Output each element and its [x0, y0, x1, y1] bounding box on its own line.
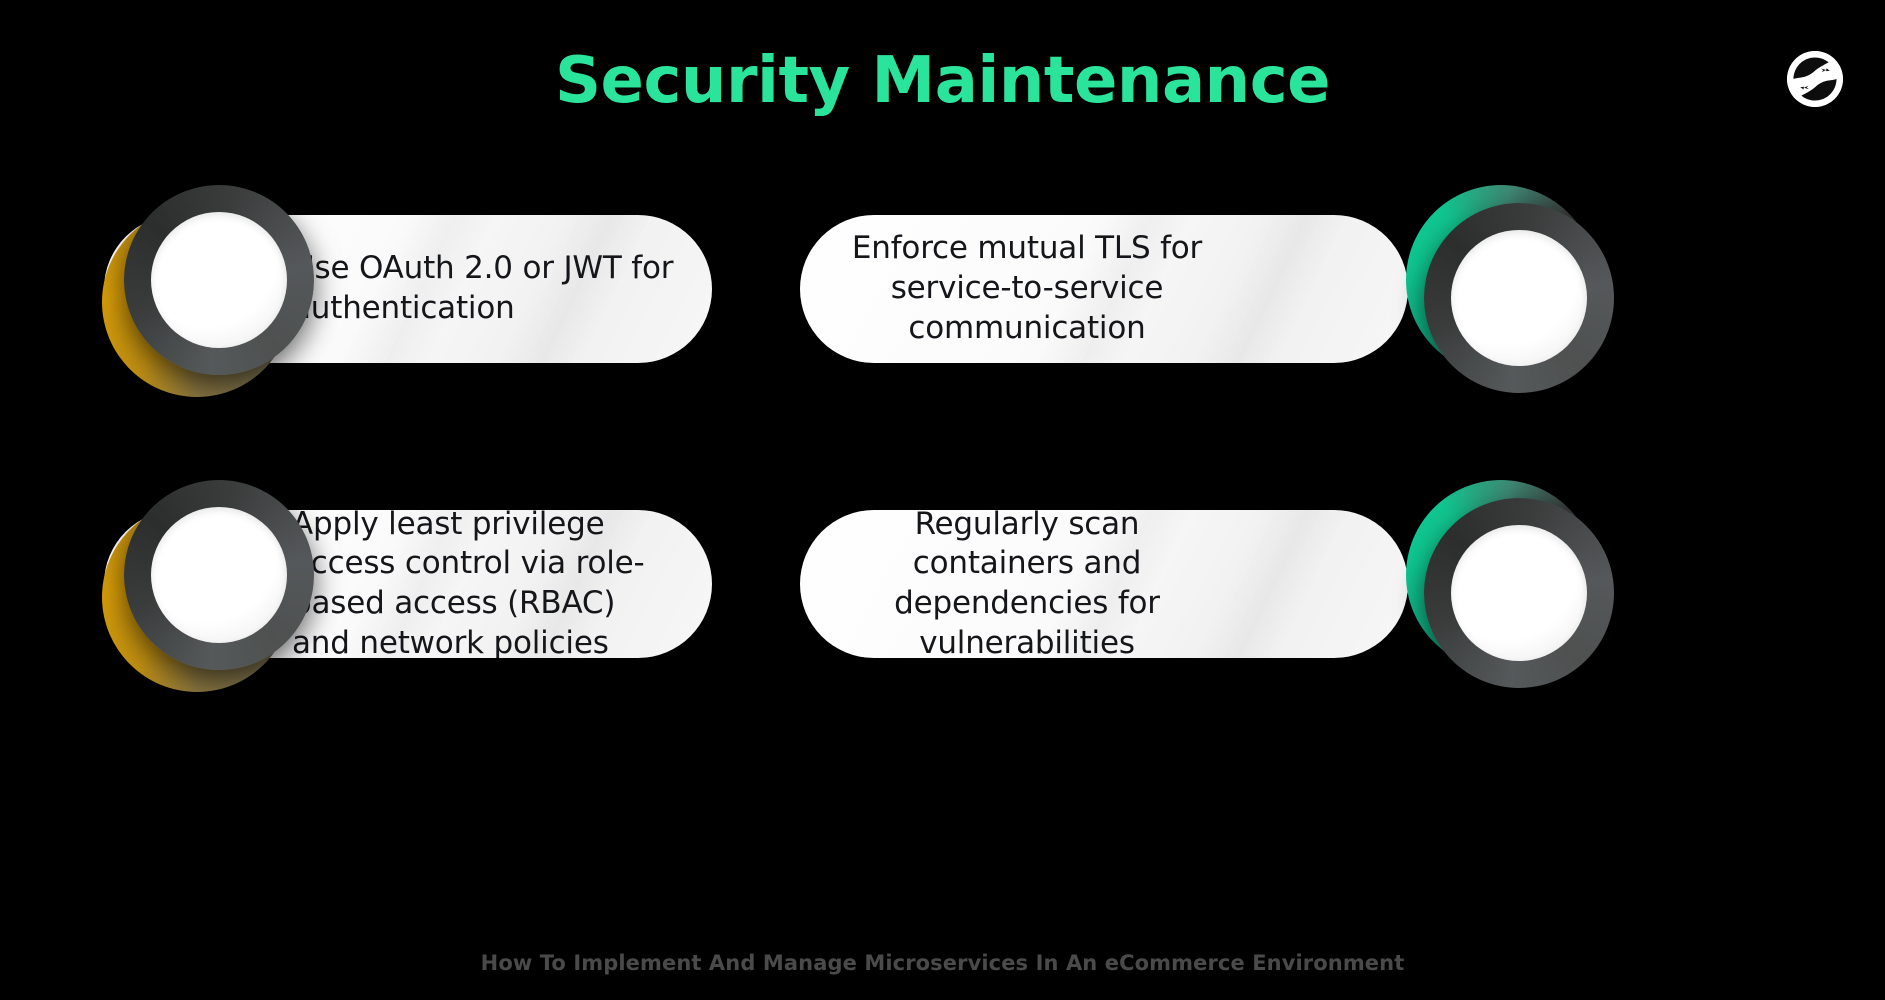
card-text: Use OAuth 2.0 or JWT for authentication [292, 249, 678, 328]
page-title: Security Maintenance [0, 44, 1885, 118]
card-text: Enforce mutual TLS for service-to-servic… [834, 229, 1220, 348]
brand-logo [1787, 51, 1843, 107]
card-grid: Use OAuth 2.0 or JWT for authentication … [0, 165, 1885, 845]
badge-icon [102, 480, 310, 688]
card-text: Regularly scan containers and dependenci… [834, 510, 1220, 658]
badge-icon [1406, 185, 1614, 393]
dark-ring-icon [124, 185, 314, 375]
header: Security Maintenance [0, 0, 1885, 165]
badge-icon [102, 185, 310, 393]
brand-logo-icon [1787, 51, 1843, 107]
dark-ring-icon [1424, 498, 1614, 688]
card-body: Regularly scan containers and dependenci… [800, 510, 1408, 658]
footer-caption: How To Implement And Manage Microservice… [0, 951, 1885, 975]
dark-ring-icon [124, 480, 314, 670]
badge-icon [1406, 480, 1614, 688]
dark-ring-icon [1424, 203, 1614, 393]
card-text: Apply least privilege access control via… [292, 510, 678, 658]
card-body: Enforce mutual TLS for service-to-servic… [800, 215, 1408, 363]
